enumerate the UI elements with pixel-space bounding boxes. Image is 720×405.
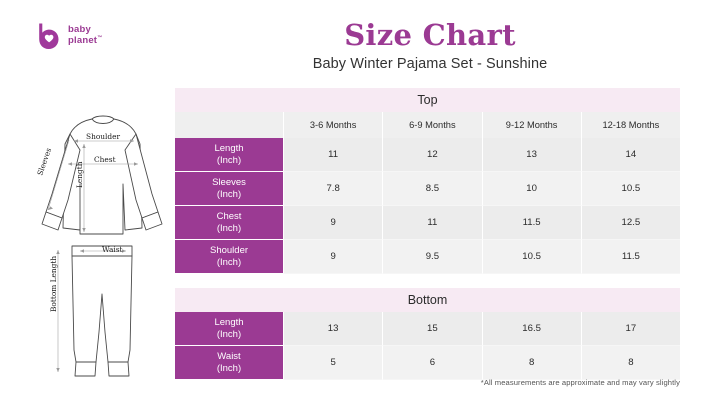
row-label-length: Length (Inch): [175, 312, 283, 346]
row-unit-text: (Inch): [217, 329, 241, 341]
row-label-text: Length: [214, 143, 243, 155]
row-label-sleeves: Sleeves (Inch): [175, 172, 283, 206]
column-header-9-12-months: 9-12 Months: [482, 112, 581, 138]
cell-value: 16.5: [482, 312, 581, 346]
row-label-length: Length (Inch): [175, 138, 283, 172]
table-row: Sleeves (Inch) 7.8 8.5 10 10.5: [175, 172, 680, 206]
label-chest: Chest: [94, 155, 116, 164]
table-row: Chest (Inch) 9 11 11.5 12.5: [175, 206, 680, 240]
cell-value: 10.5: [581, 172, 680, 206]
cell-value: 11.5: [581, 240, 680, 274]
column-header-3-6-months: 3-6 Months: [283, 112, 382, 138]
size-chart-page: baby planet™ Size Chart Baby Winter Paja…: [0, 0, 720, 405]
cell-value: 8: [581, 346, 680, 380]
trademark-mark: ™: [97, 35, 102, 41]
cell-value: 10: [482, 172, 581, 206]
cell-value: 15: [382, 312, 481, 346]
cell-value: 9: [283, 206, 382, 240]
cell-value: 7.8: [283, 172, 382, 206]
label-bottom-length: Bottom Length: [49, 256, 58, 312]
pajama-illustration: Shoulder Chest Length Sleeves Waist: [22, 100, 172, 390]
table-row: Length (Inch) 13 15 16.5 17: [175, 312, 680, 346]
top-size-table: Top 3-6 Months 6-9 Months 9-12 Months 12…: [175, 88, 680, 274]
baby-planet-b-heart-icon: [36, 22, 62, 50]
page-title: Size Chart: [180, 18, 680, 52]
label-length: Length: [75, 161, 84, 188]
cell-value: 8.5: [382, 172, 481, 206]
cell-value: 10.5: [482, 240, 581, 274]
table-header-row: 3-6 Months 6-9 Months 9-12 Months 12-18 …: [175, 112, 680, 138]
column-header-6-9-months: 6-9 Months: [382, 112, 481, 138]
brand-line-2: planet™: [68, 36, 102, 47]
section-title-bottom: Bottom: [175, 288, 680, 312]
cell-value: 11.5: [482, 206, 581, 240]
cell-value: 17: [581, 312, 680, 346]
footnote: *All measurements are approximate and ma…: [481, 378, 680, 387]
row-unit-text: (Inch): [217, 155, 241, 167]
row-label-shoulder: Shoulder (Inch): [175, 240, 283, 274]
row-label-waist: Waist (Inch): [175, 346, 283, 380]
cell-value: 9: [283, 240, 382, 274]
cell-value: 11: [382, 206, 481, 240]
brand-wordmark: baby planet™: [68, 25, 102, 46]
row-label-text: Length: [214, 317, 243, 329]
row-unit-text: (Inch): [217, 363, 241, 375]
row-unit-text: (Inch): [217, 223, 241, 235]
row-label-text: Chest: [217, 211, 242, 223]
row-label-text: Sleeves: [212, 177, 246, 189]
row-label-chest: Chest (Inch): [175, 206, 283, 240]
label-shoulder: Shoulder: [86, 132, 121, 141]
header-blank-cell: [175, 112, 283, 138]
label-sleeves: Sleeves: [35, 147, 53, 177]
cell-value: 6: [382, 346, 481, 380]
table-row: Shoulder (Inch) 9 9.5 10.5 11.5: [175, 240, 680, 274]
cell-value: 5: [283, 346, 382, 380]
cell-value: 12: [382, 138, 481, 172]
row-unit-text: (Inch): [217, 257, 241, 269]
bottom-size-table: Bottom Length (Inch) 13 15 16.5 17 Waist…: [175, 288, 680, 380]
table-row: Length (Inch) 11 12 13 14: [175, 138, 680, 172]
cell-value: 11: [283, 138, 382, 172]
cell-value: 13: [283, 312, 382, 346]
brand-logo: baby planet™: [36, 22, 102, 50]
row-label-text: Shoulder: [210, 245, 248, 257]
row-label-text: Waist: [217, 351, 240, 363]
label-waist: Waist: [102, 245, 123, 254]
cell-value: 9.5: [382, 240, 481, 274]
cell-value: 12.5: [581, 206, 680, 240]
cell-value: 13: [482, 138, 581, 172]
column-header-12-18-months: 12-18 Months: [581, 112, 680, 138]
table-row: Waist (Inch) 5 6 8 8: [175, 346, 680, 380]
cell-value: 14: [581, 138, 680, 172]
row-unit-text: (Inch): [217, 189, 241, 201]
cell-value: 8: [482, 346, 581, 380]
page-subtitle: Baby Winter Pajama Set - Sunshine: [180, 56, 680, 72]
section-title-top: Top: [175, 88, 680, 112]
